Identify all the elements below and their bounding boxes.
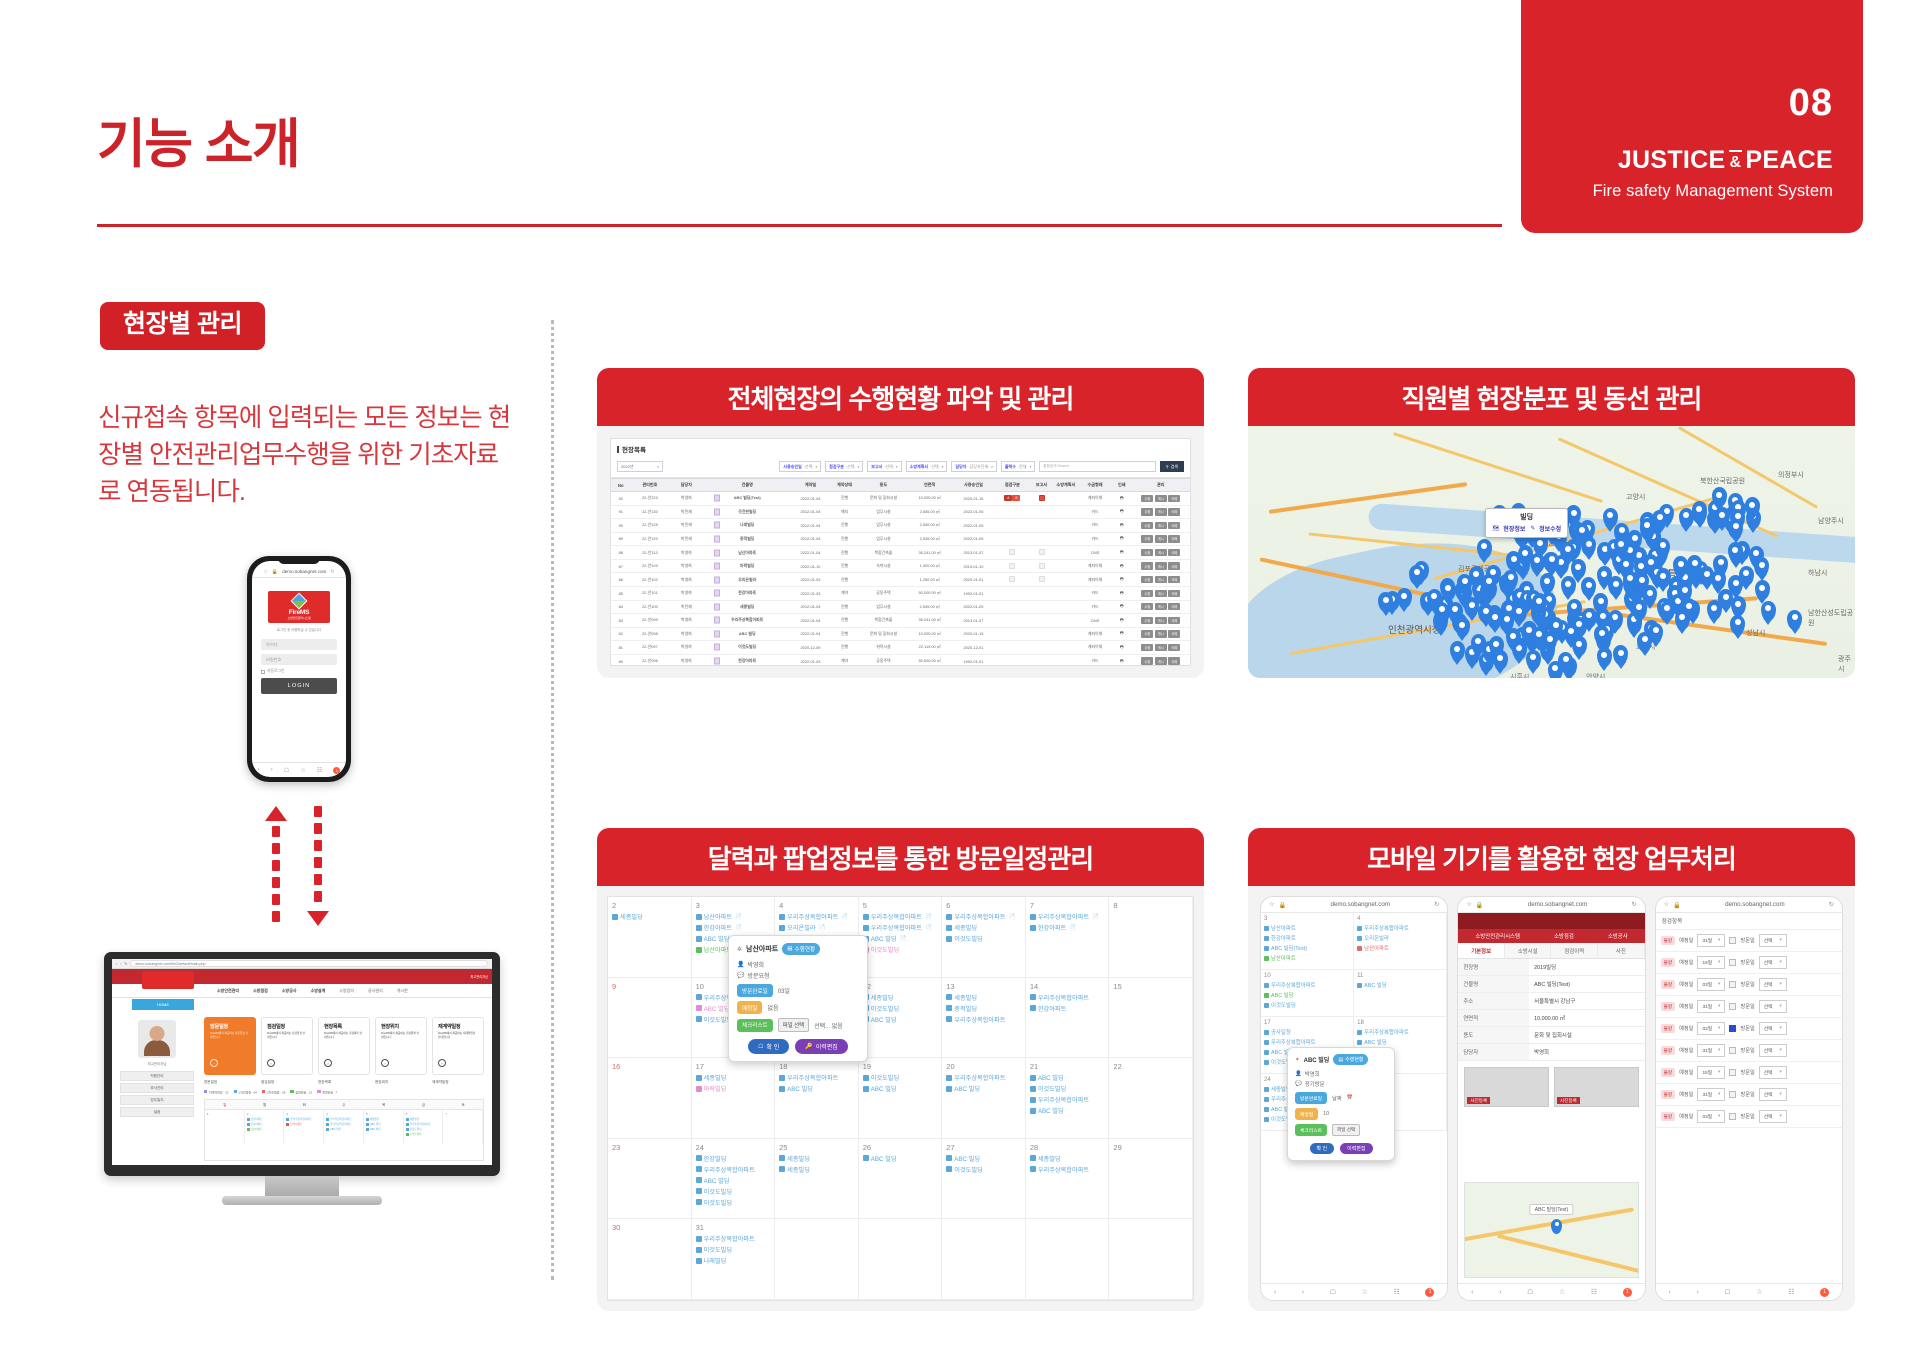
filter-select-1[interactable]: 점검구분:선택:▾ — [825, 461, 863, 472]
mobile-reload-icon-1[interactable]: ↻ — [1434, 901, 1439, 908]
mobile-checklist-select2[interactable]: 선택▾ — [1759, 1110, 1787, 1123]
cell-report[interactable] — [1029, 627, 1053, 641]
mobile-checklist-row[interactable]: 불량예정일02일▾방문일선택▾ — [1656, 1018, 1842, 1040]
calendar-event[interactable]: ABC 빌딩 — [946, 1154, 1021, 1163]
mobile-checklist-select2[interactable]: 선택▾ — [1759, 1066, 1787, 1079]
calendar-cell[interactable] — [1109, 1219, 1193, 1300]
cell-inspect[interactable] — [995, 505, 1029, 519]
cell-building[interactable]: 이것도빌딩 — [703, 641, 791, 655]
row-action-0[interactable]: 수정 — [1141, 522, 1153, 529]
row-action-1[interactable]: 게시 — [1155, 617, 1167, 624]
bookmark-icon[interactable]: ☆ — [300, 767, 305, 774]
row-action-0[interactable]: 수정 — [1141, 576, 1153, 583]
calendar-event[interactable]: 우리주상복합아파트 — [946, 1015, 1021, 1024]
calendar-event[interactable]: ABC 빌딩 — [779, 1084, 854, 1093]
col-header-14[interactable]: 관리 — [1132, 479, 1191, 492]
table-row[interactable]: 8222-안098박영희ABC 빌딩2022-01-04진행문화 및 집회시설1… — [611, 627, 1190, 641]
mobile-reload-icon-3[interactable]: ↻ — [1829, 901, 1834, 908]
row-action-2[interactable]: 삭제 — [1168, 657, 1180, 664]
nav-item-1[interactable]: 소방점검 — [253, 988, 268, 994]
cell-inspect[interactable]: AB — [995, 492, 1029, 506]
cell-actions[interactable]: 수정게시삭제 — [1132, 492, 1191, 506]
row-action-2[interactable]: 삭제 — [1168, 495, 1180, 502]
print-icon[interactable]: 🖶 — [1112, 519, 1131, 533]
col-header-13[interactable]: 인쇄 — [1112, 479, 1131, 492]
row-action-0[interactable]: 수정 — [1141, 549, 1153, 556]
calendar-event[interactable]: 세종빌딩 — [696, 1073, 771, 1082]
table-row[interactable]: 8922-안120박민재중적빌딩2012-01-04진행업무시설2,545.00… — [611, 532, 1190, 546]
mini-cal-event[interactable]: 우리주상복합아파트 — [326, 1117, 361, 1121]
row-action-2[interactable]: 삭제 — [1168, 576, 1180, 583]
calendar-event[interactable]: 오리온빌라📄 — [779, 923, 854, 932]
mini-cal-event[interactable]: 우리주상복합아파트 — [406, 1122, 441, 1126]
mobile-calendar-event[interactable]: 공사일정 — [1264, 1028, 1350, 1036]
calendar-event[interactable]: 나래빌딩 — [696, 1256, 771, 1265]
row-action-1[interactable]: 게시 — [1155, 576, 1167, 583]
mobile-tab-1[interactable]: 소방시설 — [1505, 943, 1552, 958]
browser-reload-icon[interactable]: ↻ — [124, 962, 127, 966]
mobile-checklist-tag[interactable]: 불량 — [1661, 980, 1675, 989]
cell-actions[interactable]: 수정게시삭제 — [1132, 505, 1191, 519]
calendar-cell[interactable] — [859, 1219, 943, 1300]
print-icon[interactable]: 🖶 — [1112, 492, 1131, 506]
row-action-0[interactable]: 수정 — [1141, 644, 1153, 651]
mobile-checklist-select2[interactable]: 선택▾ — [1759, 978, 1787, 991]
mobile-checklist-select2[interactable]: 선택▾ — [1759, 956, 1787, 969]
calendar-cell[interactable]: 7우리주상복합아파트📄한강아파트📄 — [1026, 897, 1110, 978]
doc-icon[interactable] — [1009, 576, 1015, 582]
mobile-checklist-tag[interactable]: 불량 — [1661, 1090, 1675, 1099]
row-action-1[interactable]: 게시 — [1155, 508, 1167, 515]
autologin-checkbox[interactable]: 자동로그인 — [261, 669, 337, 674]
row-action-0[interactable]: 수정 — [1141, 590, 1153, 597]
calendar-event[interactable]: ABC 빌딩 — [863, 1154, 938, 1163]
calendar-cell[interactable]: 19이것도빌딩ABC 빌딩 — [859, 1058, 943, 1139]
row-action-1[interactable]: 게시 — [1155, 522, 1167, 529]
mobile-checklist-select[interactable]: 02일▾ — [1697, 1022, 1725, 1035]
mobile-calendar-event[interactable]: 남산아파트 — [1357, 944, 1443, 952]
cell-actions[interactable]: 수정게시삭제 — [1132, 586, 1191, 600]
mobile-checklist-select[interactable]: 15일▾ — [1697, 1066, 1725, 1079]
calendar-event[interactable]: 마락빌딩 — [696, 1084, 771, 1093]
home-icon[interactable]: ☖ — [1724, 1288, 1730, 1296]
mobile-nav-item-1[interactable]: 소방공사 — [1608, 932, 1628, 940]
row-action-1[interactable]: 게시 — [1155, 630, 1167, 637]
login-password-field[interactable]: 비밀번호 — [261, 654, 337, 665]
cell-inspect[interactable] — [995, 573, 1029, 587]
home-icon[interactable]: ☖ — [1330, 1288, 1336, 1296]
col-header-10[interactable]: 보고서 — [1029, 479, 1053, 492]
mobile-checklist-select2[interactable]: 선택▾ — [1759, 934, 1787, 947]
table-row[interactable]: 8422-안100박민재세종빌딩2012-01-04진행업무시설2,545.00… — [611, 600, 1190, 614]
calendar-cell[interactable]: 13세종빌딩중적빌딩우리주상복합아파트 — [942, 978, 1026, 1059]
mobile-checklist-select[interactable]: 31일▾ — [1697, 934, 1725, 947]
bookmark-icon[interactable]: ☆ — [1559, 1288, 1565, 1296]
map-pin[interactable] — [1548, 661, 1563, 678]
calendar-cell[interactable]: 16 — [608, 1058, 692, 1139]
calendar-event[interactable]: 우리주상복합아파트📄 — [863, 923, 938, 932]
row-action-1[interactable]: 게시 — [1155, 535, 1167, 542]
mobile-calendar-event[interactable]: 한강아파트 — [1264, 934, 1350, 942]
home-icon[interactable]: ☖ — [1527, 1288, 1533, 1296]
calendar-event[interactable]: ABC 빌딩 — [946, 1084, 1021, 1093]
cell-building[interactable]: 우리주상복합아파트 — [703, 614, 791, 628]
calendar-cell[interactable]: 26ABC 빌딩 — [859, 1139, 943, 1220]
cell-actions[interactable]: 수정게시삭제 — [1132, 614, 1191, 628]
calendar-event[interactable]: ABC 빌딩 — [863, 1084, 938, 1093]
cell-building[interactable]: 남산아파트 — [703, 546, 791, 560]
calendar-event[interactable]: 우리주상복합아파트📄 — [863, 912, 938, 921]
row-action-0[interactable]: 수정 — [1141, 508, 1153, 515]
col-header-0[interactable]: No — [611, 479, 630, 492]
calendar-cell[interactable] — [775, 1219, 859, 1300]
mini-cal-event[interactable]: 한강아파트 — [247, 1122, 282, 1126]
doc-icon[interactable] — [1009, 563, 1015, 569]
table-row[interactable]: 8022-안096박영희한강아파트2022-01-03계약공동주택50,000.… — [611, 654, 1190, 666]
col-header-4[interactable]: 계약일 — [791, 479, 830, 492]
cell-report[interactable] — [1029, 532, 1053, 546]
filter-select-4[interactable]: 담당자:담당자전체:▾ — [951, 461, 996, 472]
mobile-checklist-row[interactable]: 불량예정일03일▾방문일선택▾ — [1656, 1106, 1842, 1128]
doc-icon[interactable] — [1039, 576, 1045, 582]
cell-plan[interactable] — [1054, 600, 1078, 614]
calendar-event[interactable]: 이것도빌딩 — [696, 1187, 771, 1196]
forward-icon[interactable]: › — [1499, 1289, 1501, 1296]
mini-cal-event[interactable]: 남산아파트 — [286, 1122, 321, 1126]
mini-cal-event[interactable]: 남산아파트 — [247, 1127, 282, 1131]
calendar-cell[interactable]: 31우리주상복합아파트이것도빌딩나래빌딩 — [692, 1219, 776, 1300]
row-action-0[interactable]: 수정 — [1141, 562, 1153, 569]
row-action-0[interactable]: 수정 — [1141, 617, 1153, 624]
cell-building[interactable]: 한강아파트 — [703, 586, 791, 600]
sidebar-item-1[interactable]: 부서관리 — [120, 1083, 194, 1093]
print-icon[interactable]: 🖶 — [1112, 614, 1131, 628]
mobile-url-bar-2[interactable]: ☆🔒 demo.sobangnet.com ↻ — [1458, 897, 1644, 913]
calendar-cell[interactable]: 25세종빌딩세종빌딩 — [775, 1139, 859, 1220]
nav-item-2[interactable]: 소방공사 — [282, 988, 297, 994]
cell-actions[interactable]: 수정게시삭제 — [1132, 641, 1191, 655]
mini-cal-event[interactable]: 우리주상복합아파트 — [326, 1122, 361, 1126]
print-icon[interactable]: 🖶 — [1112, 586, 1131, 600]
cell-report[interactable] — [1029, 573, 1053, 587]
bookmark-icon[interactable]: ☆ — [1756, 1288, 1762, 1296]
mobile-checklist-tag[interactable]: 불량 — [1661, 1024, 1675, 1033]
mobile-checklist-select[interactable]: 31일▾ — [1697, 1000, 1725, 1013]
mobile-checklist-row[interactable]: 불량예정일31일▾방문일선택▾ — [1656, 996, 1842, 1018]
map-tooltip-link-edit-info[interactable]: ✎ 정보수정 — [1530, 524, 1561, 533]
mobile-checklist-row[interactable]: 불량예정일15일▾방문일선택▾ — [1656, 952, 1842, 974]
calendar-event[interactable]: ABC 빌딩 — [696, 1176, 771, 1185]
calendar-icon[interactable] — [1729, 981, 1736, 988]
calendar-event[interactable]: 우리주상복합아파트 — [779, 1073, 854, 1082]
nav-item-0[interactable]: 소방안전관리 — [217, 988, 239, 994]
tabs-icon[interactable]: ☷ — [317, 767, 322, 774]
cell-building[interactable]: 나래빌딩 — [703, 519, 791, 533]
cell-plan[interactable] — [1054, 627, 1078, 641]
row-action-1[interactable]: 게시 — [1155, 644, 1167, 651]
tabs-icon[interactable]: ☷ — [1788, 1288, 1794, 1296]
calendar-event[interactable]: 우리주상복합아파트 — [696, 1234, 771, 1243]
print-icon[interactable]: 🖶 — [1112, 573, 1131, 587]
mobile-nav[interactable]: 소방안전관리시스템 소방점검 소방공사 — [1458, 929, 1644, 943]
calendar-cell[interactable]: 2세종빌딩 — [608, 897, 692, 978]
cell-report[interactable] — [1029, 505, 1053, 519]
cell-plan[interactable] — [1054, 573, 1078, 587]
calendar-event[interactable]: 세종빌딩 — [779, 1165, 854, 1174]
row-action-0[interactable]: 수정 — [1141, 495, 1153, 502]
back-icon[interactable]: ‹ — [258, 767, 260, 773]
mobile-popup-file-button[interactable]: 파일 선택 — [1332, 1124, 1360, 1136]
row-action-2[interactable]: 삭제 — [1168, 590, 1180, 597]
cell-actions[interactable]: 수정게시삭제 — [1132, 573, 1191, 587]
cell-report[interactable] — [1029, 559, 1053, 573]
nav-item-3[interactable]: 소방설계 — [311, 988, 326, 994]
mini-cal-cell[interactable]: 6세종빌딩우리주상복합아파트이것도빌딩오리온빌라 — [404, 1110, 444, 1144]
map-canvas[interactable]: 김포시고양시북한산국립공원의정부시남양주시김포국제공항서울특별시청하남시인천광역… — [1248, 426, 1855, 678]
reload-icon[interactable]: ↻ — [330, 569, 334, 575]
mobile-calendar-event[interactable]: 남산아파트 — [1264, 924, 1350, 932]
mobile-tabs[interactable]: 기본정보소방시설점검이력사진 — [1458, 943, 1644, 959]
mobile-photo-2[interactable]: 사진등록 — [1554, 1067, 1639, 1107]
calendar-cell[interactable]: 23 — [608, 1139, 692, 1220]
calendar-icon[interactable] — [1729, 1113, 1736, 1120]
mobile-url-bar-1[interactable]: ☆🔒 demo.sobangnet.com ↻ — [1261, 897, 1447, 913]
cell-plan[interactable] — [1054, 614, 1078, 628]
mobile-calendar-event[interactable]: ABC 빌딩 — [1357, 981, 1443, 989]
print-icon[interactable]: 🖶 — [1112, 654, 1131, 666]
star-icon[interactable]: ☆ — [1269, 901, 1275, 908]
cell-building[interactable]: 오리온빌라 — [703, 573, 791, 587]
mobile-calendar-event[interactable]: 우리주상복합아파트 — [1357, 1028, 1443, 1036]
mini-cal-event[interactable]: ABC 빌딩 — [326, 1127, 361, 1131]
print-icon[interactable]: 🖶 — [1112, 641, 1131, 655]
row-action-2[interactable]: 삭제 — [1168, 522, 1180, 529]
row-action-2[interactable]: 삭제 — [1168, 562, 1180, 569]
mobile-popup-status-pill[interactable]: ▤ 수행현황 — [1333, 1054, 1368, 1065]
cell-report[interactable] — [1029, 641, 1053, 655]
row-action-0[interactable]: 수정 — [1141, 657, 1153, 664]
back-icon[interactable]: ‹ — [1668, 1289, 1670, 1296]
cell-building[interactable]: ABC 빌딩 — [703, 627, 791, 641]
calendar-event[interactable]: 세종빌딩 — [779, 1154, 854, 1163]
col-header-5[interactable]: 계약상태 — [830, 479, 859, 492]
calendar-popup[interactable]: ✲ 남산아파트 ▤ 수행현황 👤 박영희 💬 방문요청 — [728, 935, 868, 1062]
inspect-chip-2[interactable]: B — [1012, 495, 1020, 501]
calendar-event[interactable]: 한강아파트 — [1030, 1004, 1105, 1013]
calendar-event[interactable]: 이것도빌딩 — [946, 1165, 1021, 1174]
row-action-0[interactable]: 수정 — [1141, 535, 1153, 542]
mobile-calendar-cell[interactable]: 3남산아파트한강아파트ABC 빌딩(Test)남산아파트 — [1261, 913, 1354, 970]
back-icon[interactable]: ‹ — [1471, 1289, 1473, 1296]
col-header-1[interactable]: 관리번호 — [630, 479, 669, 492]
calendar-cell[interactable]: 17세종빌딩마락빌딩 — [692, 1058, 776, 1139]
mobile-calendar-event[interactable]: 우리주상복합아파트 — [1264, 1038, 1350, 1046]
calendar-popup-file-button[interactable]: 파일 선택 — [778, 1018, 809, 1032]
calendar-icon[interactable] — [1729, 1091, 1736, 1098]
calendar-event[interactable]: 우리주상복합아파트 — [1030, 993, 1105, 1002]
calendar-event[interactable]: 이것도빌딩 — [1030, 1084, 1105, 1093]
calendar-icon[interactable] — [1729, 1069, 1736, 1076]
print-icon[interactable]: 🖶 — [1112, 546, 1131, 560]
mobile-calendar-cell[interactable]: 4우리주상복합아파트오리온빌라남산아파트 — [1354, 913, 1447, 970]
doc-icon[interactable] — [1039, 549, 1045, 555]
mini-cal-event[interactable]: ABC 빌딩 — [366, 1127, 401, 1131]
calendar-event[interactable]: ABC 빌딩 — [863, 1015, 938, 1024]
col-header-3[interactable]: 건물명 — [703, 479, 791, 492]
calendar-event[interactable]: ABC 빌딩 — [1030, 1073, 1105, 1082]
row-action-2[interactable]: 삭제 — [1168, 603, 1180, 610]
card-go-icon[interactable]: › — [438, 1059, 446, 1067]
mobile-checklist-select2[interactable]: 선택▾ — [1759, 1022, 1787, 1035]
mini-cal-cell[interactable]: 3우리주상복합아파트남산아파트 — [284, 1110, 324, 1144]
table-row[interactable]: 9022-안125박민재나래빌딩2012-01-04진행업무시설2,545.00… — [611, 519, 1190, 533]
mobile-nav-item-0[interactable]: 소방점검 — [1554, 932, 1574, 940]
cell-inspect[interactable] — [995, 519, 1029, 533]
mini-cal-cell[interactable]: 5세종빌딩ABC 빌딩ABC 빌딩 — [364, 1110, 404, 1144]
calendar-cell[interactable] — [1026, 1219, 1110, 1300]
col-header-7[interactable]: 연면적 — [908, 479, 952, 492]
col-header-12[interactable]: 수금형태 — [1078, 479, 1112, 492]
mobile-tab-3[interactable]: 사진 — [1598, 943, 1645, 958]
filter-select-3[interactable]: 소방계획서:선택:▾ — [906, 461, 948, 472]
mobile-checklist-select[interactable]: 03일▾ — [1697, 978, 1725, 991]
forward-icon[interactable]: › — [271, 767, 273, 773]
calendar-event[interactable]: 이것도빌딩 — [863, 1004, 938, 1013]
doc-icon[interactable] — [1039, 563, 1045, 569]
calendar-icon[interactable] — [1729, 1025, 1736, 1032]
mobile-reload-icon-2[interactable]: ↻ — [1631, 901, 1636, 908]
nav-item-5[interactable]: 공사관리 — [368, 988, 383, 994]
table-row[interactable]: 8722-안103박영희마락빌딩2022-01-10진행숙박시설1,320.00… — [611, 559, 1190, 573]
cell-inspect[interactable] — [995, 641, 1029, 655]
calendar-icon[interactable] — [1729, 1047, 1736, 1054]
calendar-popup-confirm-button[interactable]: ☖ 확 인 — [748, 1039, 789, 1054]
cell-inspect[interactable] — [995, 600, 1029, 614]
mini-cal-cell[interactable]: 1 — [205, 1110, 245, 1144]
print-icon[interactable]: 🖶 — [1112, 627, 1131, 641]
calendar-icon[interactable] — [1729, 959, 1736, 966]
site-search-input[interactable]: 통합검색 Search.. — [1039, 461, 1155, 472]
cell-inspect[interactable] — [995, 627, 1029, 641]
cell-building[interactable]: 마락빌딩 — [703, 559, 791, 573]
table-row[interactable]: 9222-안223박영희ABC 빌딩(Test)2022-01-04진행문화 및… — [611, 492, 1190, 506]
cell-actions[interactable]: 수정게시삭제 — [1132, 532, 1191, 546]
cell-plan[interactable] — [1054, 519, 1078, 533]
cell-report[interactable] — [1029, 654, 1053, 666]
dashboard-card-1[interactable]: 점검일정FireMS에서 제공하는 점검일정 안내입니다.› — [261, 1017, 313, 1075]
mobile-calendar-event[interactable]: 이것도빌딩 — [1264, 1001, 1350, 1009]
col-header-11[interactable]: 소방계획서 — [1054, 479, 1078, 492]
row-action-2[interactable]: 삭제 — [1168, 549, 1180, 556]
calendar-cell[interactable]: 28세종빌딩우리주상복합아파트 — [1026, 1139, 1110, 1220]
mobile-checklist-row[interactable]: 불량예정일15일▾방문일선택▾ — [1656, 1062, 1842, 1084]
inspect-chip[interactable]: A — [1004, 495, 1012, 501]
cell-actions[interactable]: 수정게시삭제 — [1132, 546, 1191, 560]
mobile-checklist-select2[interactable]: 선택▾ — [1759, 1000, 1787, 1013]
cell-report[interactable] — [1029, 600, 1053, 614]
calendar-popup-edit-button[interactable]: 🔑 이력편집 — [795, 1039, 848, 1054]
map-tooltip-link-site-info[interactable]: 🗺 현장정보 — [1492, 524, 1525, 533]
calendar-event[interactable]: 세종빌딩 — [863, 993, 938, 1002]
browser-forward-icon[interactable]: › — [120, 962, 121, 966]
desktop-home-tab[interactable]: HOME — [132, 999, 194, 1010]
col-header-8[interactable]: 사용승인일 — [952, 479, 996, 492]
forward-icon[interactable]: › — [1302, 1289, 1304, 1296]
sidebar-item-2[interactable]: 업무일지 — [120, 1095, 194, 1105]
row-action-1[interactable]: 게시 — [1155, 603, 1167, 610]
map-tooltip[interactable]: 빌딩 🗺 현장정보 ✎ 정보수정 — [1485, 508, 1568, 538]
mobile-calendar-event[interactable]: ABC 빌딩 — [1357, 1038, 1443, 1046]
calendar-icon[interactable] — [1729, 1003, 1736, 1010]
calendar-cell[interactable]: 20우리주상복합아파트ABC 빌딩 — [942, 1058, 1026, 1139]
dashboard-card-3[interactable]: 현장위치FireMS에서 제공하는 현장위치 안내입니다.› — [375, 1017, 427, 1075]
cell-building[interactable]: ABC 빌딩(Test) — [703, 492, 791, 506]
calendar-event[interactable]: 남산아파트📄 — [696, 912, 771, 921]
mobile-checklist-row[interactable]: 불량예정일31일▾방문일선택▾ — [1656, 1084, 1842, 1106]
mini-cal-event[interactable]: ABC 빌딩 — [366, 1122, 401, 1126]
cell-actions[interactable]: 수정게시삭제 — [1132, 654, 1191, 666]
mobile-checklist-tag[interactable]: 불량 — [1661, 1002, 1675, 1011]
tabs-icon[interactable]: ☷ — [1591, 1288, 1597, 1296]
mobile-map[interactable]: ABC 빌딩(Test) — [1464, 1182, 1638, 1278]
table-row[interactable]: 8822-안113박영희남산아파트2022-01-04진행복합건축물35,241… — [611, 546, 1190, 560]
mobile-checklist-tag[interactable]: 불량 — [1661, 958, 1675, 967]
cell-actions[interactable]: 수정게시삭제 — [1132, 559, 1191, 573]
mobile-checklist-tag[interactable]: 불량 — [1661, 936, 1675, 945]
mobile-calendar-event[interactable]: 오리온빌라 — [1357, 934, 1443, 942]
row-action-1[interactable]: 게시 — [1155, 495, 1167, 502]
calendar-cell[interactable]: 22 — [1109, 1058, 1193, 1139]
cell-plan[interactable] — [1054, 505, 1078, 519]
card-go-icon[interactable]: › — [267, 1059, 275, 1067]
calendar-event[interactable]: 세종빌딩 — [946, 923, 1021, 932]
row-action-0[interactable]: 수정 — [1141, 603, 1153, 610]
browser-back-icon[interactable]: ‹ — [116, 962, 117, 966]
cell-report[interactable] — [1029, 492, 1053, 506]
card-go-icon[interactable]: › — [210, 1059, 218, 1067]
calendar-event[interactable]: 한강아파트📄 — [696, 923, 771, 932]
row-action-1[interactable]: 게시 — [1155, 562, 1167, 569]
calendar-cell[interactable]: 12세종빌딩이것도빌딩ABC 빌딩 — [859, 978, 943, 1059]
row-action-1[interactable]: 게시 — [1155, 590, 1167, 597]
row-action-2[interactable]: 삭제 — [1168, 644, 1180, 651]
calendar-event[interactable]: 우리주상복합아파트 — [946, 1073, 1021, 1082]
cell-plan[interactable] — [1054, 641, 1078, 655]
calendar-event[interactable]: 우리주상복합아파트📄 — [779, 912, 854, 921]
cell-plan[interactable] — [1054, 546, 1078, 560]
table-row[interactable]: 8122-안097박영희이것도빌딩2020-12-09진행위락시설22,119.… — [611, 641, 1190, 655]
star-icon[interactable]: ☆ — [1466, 901, 1472, 908]
mobile-map-pin[interactable] — [1551, 1219, 1562, 1234]
mobile-calendar-cell[interactable]: 10우리주상복합아파트ABC 빌딩이것도빌딩 — [1261, 970, 1354, 1017]
login-button[interactable]: LOGIN — [261, 678, 337, 694]
cell-inspect[interactable] — [995, 614, 1029, 628]
cell-plan[interactable] — [1054, 586, 1078, 600]
calendar-event[interactable]: 우리주상복합아파트 — [1030, 1165, 1105, 1174]
mobile-calendar-cell[interactable]: 11ABC 빌딩 — [1354, 970, 1447, 1017]
mobile-checklist-select2[interactable]: 선택▾ — [1759, 1044, 1787, 1057]
table-row[interactable]: 8522-안101박영희한강아파트2022-01-03계약공동주택50,000.… — [611, 586, 1190, 600]
col-header-2[interactable]: 담당자 — [669, 479, 703, 492]
mini-cal-event[interactable]: 남산아파트 — [247, 1117, 282, 1121]
calendar-event[interactable]: 한강빌딩 — [696, 1154, 771, 1163]
cell-actions[interactable]: 수정게시삭제 — [1132, 519, 1191, 533]
table-row[interactable]: 8622-안102박영희오리온빌라2022-01-03진행1,250.00 ㎡2… — [611, 573, 1190, 587]
desktop-url[interactable]: demo.sobangnet.com/fire2/default/main.ph… — [130, 960, 488, 967]
nav-item-4[interactable]: 소방감리 — [339, 988, 354, 994]
nav-item-6[interactable]: 게시판 — [397, 988, 408, 994]
calendar-event[interactable]: 이것도빌딩 — [863, 945, 938, 954]
